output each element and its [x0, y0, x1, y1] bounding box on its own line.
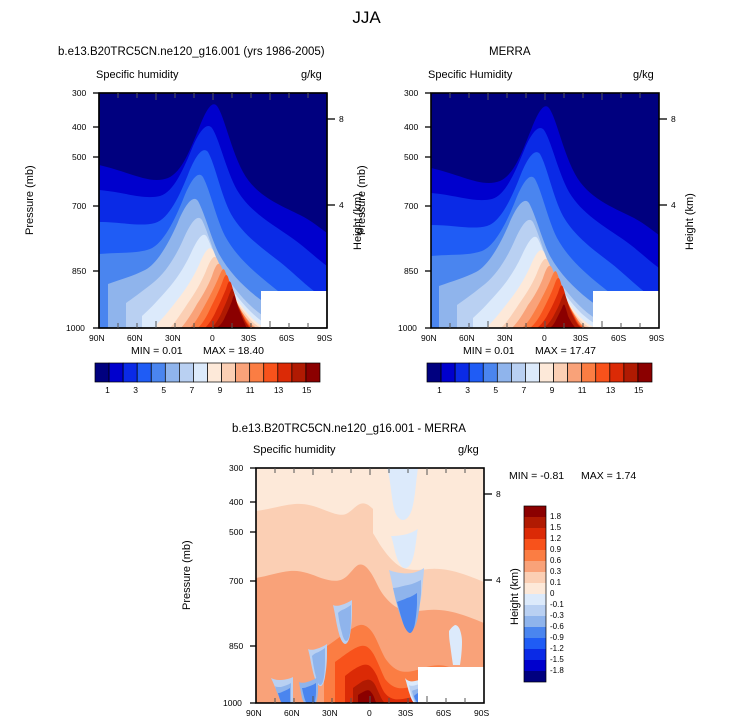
colorbar-tick-label: 3: [465, 385, 470, 395]
colorbar-tick-label: 15: [634, 385, 643, 395]
colorbar-tick-label: 9: [218, 385, 223, 395]
colorbar-tick-label: 7: [189, 385, 194, 395]
colorbar-tick-label: -0.1: [550, 600, 564, 609]
colorbar-diff-labels: 1.81.51.20.90.60.30.10-0.1-0.3-0.6-0.9-1…: [183, 410, 733, 709]
tick-lat-30S: 30S: [398, 708, 413, 718]
colorbar-tick-label: 9: [550, 385, 555, 395]
colorbar-tick-label: 1.5: [550, 523, 561, 532]
colorbar-tick-label: 11: [246, 385, 255, 395]
colorbar-tick-label: 3: [133, 385, 138, 395]
panel-obs: MERRA Specific Humidity g/kg Pressure (m…: [367, 0, 733, 410]
panel-diff: b.e13.B20TRC5CN.ne120_g16.001 - MERRA Sp…: [183, 410, 733, 709]
colorbar-tick-label: 0.1: [550, 578, 561, 587]
colorbar-tick-label: -0.9: [550, 633, 564, 642]
colorbar-tick-label: 0: [550, 589, 554, 598]
colorbar-tick-label: -1.5: [550, 655, 564, 664]
colorbar-tick-label: -0.6: [550, 622, 564, 631]
tick-lat-90S: 90S: [474, 708, 489, 718]
colorbar-tick-label: 5: [161, 385, 166, 395]
colorbar-obs-labels: 13579111315: [367, 0, 733, 410]
colorbar-tick-label: 13: [606, 385, 615, 395]
colorbar-tick-label: 1: [105, 385, 110, 395]
colorbar-tick-label: 11: [578, 385, 587, 395]
colorbar-tick-label: -0.3: [550, 611, 564, 620]
colorbar-tick-label: 1.2: [550, 534, 561, 543]
tick-lat-0: 0: [367, 708, 372, 718]
colorbar-tick-label: -1.8: [550, 666, 564, 675]
colorbar-tick-label: 1.8: [550, 512, 561, 521]
colorbar-tick-label: -1.2: [550, 644, 564, 653]
colorbar-tick-label: 0.9: [550, 545, 561, 554]
tick-lat-60N: 60N: [284, 708, 300, 718]
colorbar-tick-label: 5: [493, 385, 498, 395]
colorbar-model-labels: 13579111315: [0, 0, 366, 410]
colorbar-tick-label: 7: [521, 385, 526, 395]
colorbar-tick-label: 1: [437, 385, 442, 395]
panel-model: b.e13.B20TRC5CN.ne120_g16.001 (yrs 1986-…: [0, 0, 366, 410]
colorbar-tick-label: 0.3: [550, 567, 561, 576]
tick-lat-30N: 30N: [322, 708, 338, 718]
colorbar-tick-label: 0.6: [550, 556, 561, 565]
colorbar-tick-label: 15: [302, 385, 311, 395]
tick-lat-60S: 60S: [436, 708, 451, 718]
tick-lat-90N: 90N: [246, 708, 262, 718]
colorbar-tick-label: 13: [274, 385, 283, 395]
